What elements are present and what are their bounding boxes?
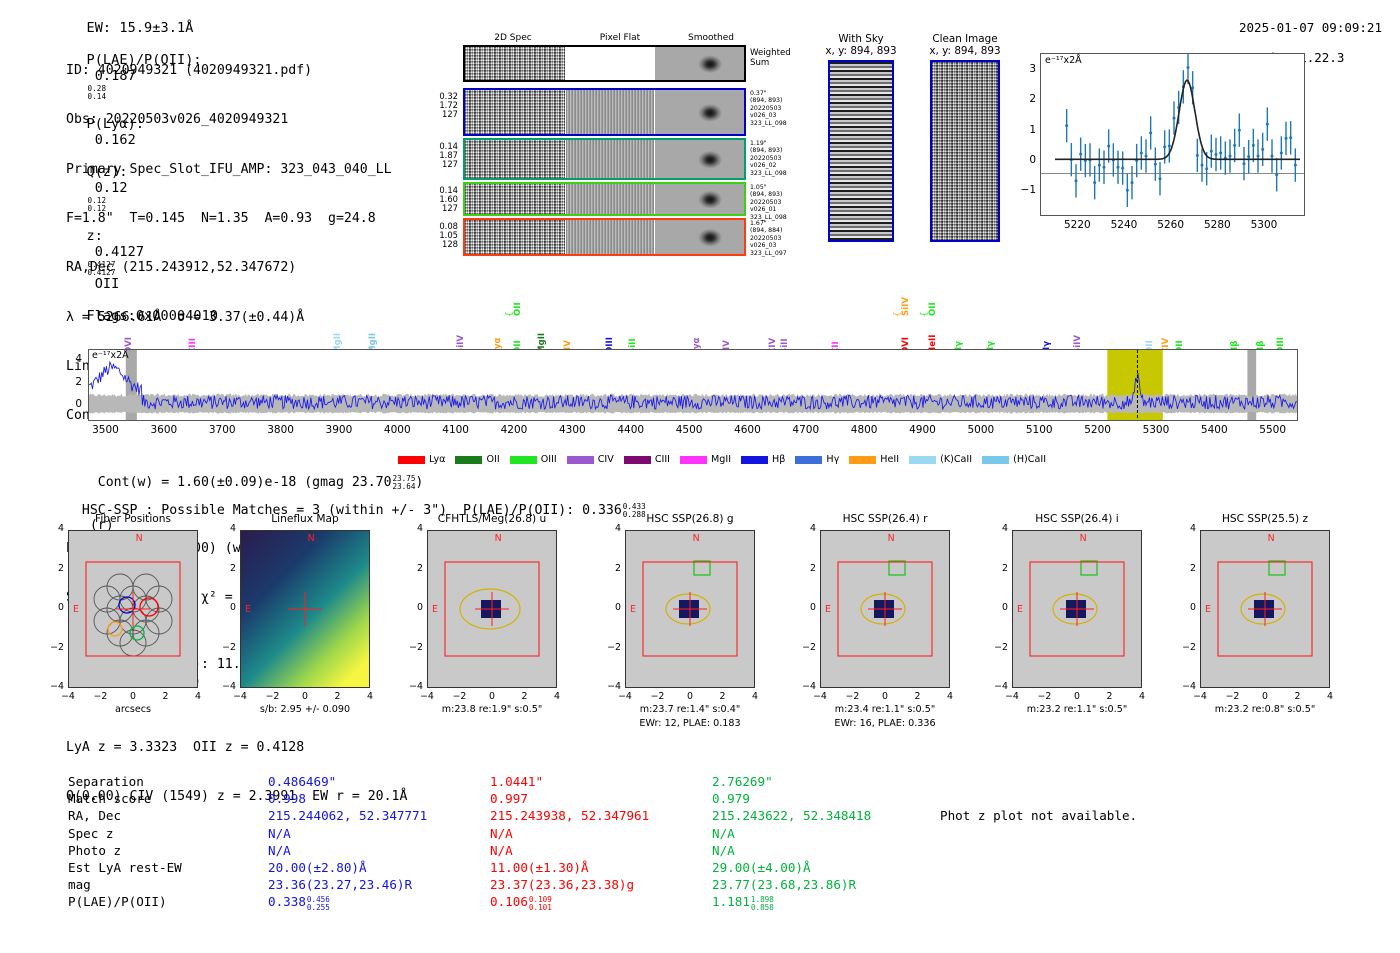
- thumbnail-xtick: 2: [1094, 691, 1126, 702]
- compass-north-label: N: [888, 533, 895, 544]
- thumbnail-title: HSC SSP(26.4) r: [800, 513, 970, 525]
- thumbnail-title: Fiber Positions: [48, 513, 218, 525]
- thumbnail-caption-1: m:23.2 re:0.8" s:0.5": [1172, 704, 1358, 715]
- legend-item: OII: [455, 454, 499, 465]
- info-radec: RA,Dec (215.243912,52.347672): [66, 260, 423, 276]
- table-row-label: Match score: [68, 790, 268, 807]
- withsky-subtitle: x, y: 894, 893: [815, 45, 907, 57]
- compass-east-label: E: [245, 604, 251, 615]
- spec2d-stat: 127: [426, 160, 458, 169]
- legend-label: Lyα: [429, 454, 445, 465]
- spec2d-meta: 20220503: [750, 155, 808, 162]
- cleanimage-image: [930, 60, 1000, 242]
- spec2d-row-meta: 0.37"(894, 893)20220503v026_03323_LL_098: [750, 90, 808, 127]
- thumbnail-ytick: −2: [986, 642, 1008, 653]
- thumbnail-title: HSC SSP(26.8) g: [605, 513, 775, 525]
- spec2d-row: [463, 182, 746, 216]
- thumbnail-caption-2: EWr: 16, PLAE: 0.336: [792, 718, 978, 729]
- thumbnail-xtick: −2: [257, 691, 289, 702]
- info-id: ID: 4020949321 (4020949321.pdf): [66, 63, 423, 79]
- table-cell: N/A: [268, 825, 490, 842]
- thumbnail-xtick: 4: [354, 691, 386, 702]
- thumbnail-ytick: 0: [214, 602, 236, 613]
- table-cell-lower: 0.101: [529, 904, 552, 912]
- thumbnail-title: HSC SSP(25.5) z: [1180, 513, 1350, 525]
- pixelflat-image: [566, 90, 654, 134]
- thumbnail-xtick: −4: [224, 691, 256, 702]
- table-row-label: mag: [68, 876, 268, 893]
- legend-swatch: [680, 456, 707, 464]
- spec2d-meta: 323_LL_098: [750, 170, 808, 177]
- withsky-title-block: With Sky x, y: 894, 893: [815, 33, 907, 58]
- thumbnail-xtick: −2: [837, 691, 869, 702]
- spec2d-row-meta: 1.19"(894, 893)20220503v026_02323_LL_098: [750, 140, 808, 177]
- spectrum-ytick: 2: [62, 376, 82, 388]
- legend-label: (H)CaII: [1013, 454, 1046, 465]
- legend-label: OII: [486, 454, 499, 465]
- full-spectrum-svg: [89, 350, 1297, 420]
- smoothed-image: [655, 140, 744, 178]
- spectrum-xtick: 5000: [957, 424, 1005, 436]
- compass-north-label: N: [495, 533, 502, 544]
- spectrum-ytick: 4: [62, 353, 82, 365]
- legend-item: Lyα: [398, 454, 445, 465]
- thumbnail-ytick: 2: [401, 563, 423, 574]
- compass-east-label: E: [73, 604, 79, 615]
- compass-east-label: E: [825, 604, 831, 615]
- zoom-plot-ytick: −1: [1018, 184, 1036, 196]
- photz-unavailable-note: Phot z plot not available.: [940, 808, 1137, 823]
- thumbnail-ytick: 4: [794, 523, 816, 534]
- legend-item: CIII: [624, 454, 670, 465]
- thumbnail-ytick: −2: [401, 642, 423, 653]
- thumbnail-image[interactable]: [1200, 530, 1330, 688]
- legend-label: CIII: [655, 454, 670, 465]
- table-row: Est LyA rest-EW20.00(±2.80)Å11.00(±1.30)…: [68, 859, 934, 876]
- thumbnail-ytick: 0: [401, 602, 423, 613]
- timestamp: 2025-01-07 09:09:21: [1239, 20, 1382, 35]
- thumbnail-overlay: [1013, 531, 1141, 687]
- table-cell-value: 0.338: [268, 894, 306, 909]
- spec2d-row-stats: 0.141.60127: [426, 186, 458, 213]
- spectrum-xtick: 3700: [198, 424, 246, 436]
- spec2d-image: [465, 90, 565, 134]
- spec2d-meta: v026_03: [750, 242, 808, 249]
- spec2d-meta: 1.05": [750, 184, 808, 191]
- pixelflat-image: [566, 140, 654, 178]
- table-row: Photo zN/AN/AN/A: [68, 842, 934, 859]
- table-cell: 0.1060.1090.101: [490, 893, 712, 910]
- thumbnail-xtick: −4: [52, 691, 84, 702]
- legend-item: (H)CaII: [982, 454, 1046, 465]
- cleanimage-title: Clean Image: [913, 33, 1017, 45]
- thumbnail-ytick: 0: [986, 602, 1008, 613]
- spectrum-legend: LyαOIIOIIICIVCIIIMgIIHβHγHeII(K)CaII(H)C…: [398, 454, 1053, 465]
- legend-swatch: [849, 456, 876, 464]
- table-cell: 23.36(23.27,23.46)R: [268, 876, 490, 893]
- thumbnail-xtick: 2: [509, 691, 541, 702]
- cleanimage-title-block: Clean Image x, y: 894, 893: [913, 33, 1017, 58]
- table-cell: 0.997: [490, 790, 712, 807]
- smoothed-image: [655, 90, 744, 134]
- thumbnail-image[interactable]: [820, 530, 950, 688]
- spec2d-meta: 20220503: [750, 105, 808, 112]
- table-cell: 1.1811.8980.858: [712, 893, 934, 910]
- table-cell: 0.979: [712, 790, 934, 807]
- info-obs: Obs: 20220503v026_4020949321: [66, 112, 423, 128]
- compass-east-label: E: [630, 604, 636, 615]
- thumbnail-xtick: −2: [85, 691, 117, 702]
- table-cell: 11.00(±1.30)Å: [490, 859, 712, 876]
- spectrum-ytick: 0: [62, 398, 82, 410]
- thumbnail-caption-1: m:23.7 re:1.4" s:0.4": [597, 704, 783, 715]
- spectrum-xtick: 4300: [548, 424, 596, 436]
- spec2d-image-weighted: [465, 47, 565, 80]
- thumbnail-xtick: −4: [804, 691, 836, 702]
- thumbnail-xtick: −2: [1029, 691, 1061, 702]
- emission-line-bracket-icon: {: [893, 311, 903, 317]
- spectrum-xtick: 3800: [257, 424, 305, 436]
- table-cell: 23.77(23.68,23.86)R: [712, 876, 934, 893]
- thumbnail-xtick: 2: [707, 691, 739, 702]
- thumbnail-ytick: −2: [42, 642, 64, 653]
- legend-swatch: [510, 456, 537, 464]
- legend-item: OIII: [510, 454, 557, 465]
- hsc-summary: HSC-SSP : Possible Matches = 3 (within +…: [66, 487, 646, 533]
- zoom-plot-ytick: 2: [1018, 93, 1036, 105]
- table-cell-lower: 0.858: [751, 904, 774, 912]
- thumbnail-xtick: 4: [1314, 691, 1346, 702]
- thumbnail-xtick: 2: [1282, 691, 1314, 702]
- thumbnail-xtick: 2: [322, 691, 354, 702]
- spectrum-xtick: 4600: [723, 424, 771, 436]
- thumbnail-xtick: −4: [411, 691, 443, 702]
- legend-label: (K)CaII: [940, 454, 972, 465]
- spectrum-xtick: 3900: [315, 424, 363, 436]
- legend-label: Hγ: [826, 454, 839, 465]
- spec2d-meta: 323_LL_097: [750, 250, 808, 257]
- weighted-sum-label: Weighted Sum: [750, 48, 791, 68]
- legend-item: MgII: [680, 454, 731, 465]
- spec2d-stat: 127: [426, 110, 458, 119]
- legend-item: HeII: [849, 454, 899, 465]
- legend-item: (K)CaII: [909, 454, 972, 465]
- legend-label: CIV: [598, 454, 614, 465]
- compass-east-label: E: [432, 604, 438, 615]
- thumbnail-xtick: 4: [1126, 691, 1158, 702]
- spec2d-meta: v026_02: [750, 162, 808, 169]
- legend-swatch: [624, 456, 651, 464]
- thumbnail-ytick: 2: [986, 563, 1008, 574]
- thumbnail-xtick: −2: [1217, 691, 1249, 702]
- thumbnail-ytick: −2: [599, 642, 621, 653]
- spec2d-stat: 128: [426, 240, 458, 249]
- thumbnail-overlay: [69, 531, 197, 687]
- thumbnail-ytick: 0: [599, 602, 621, 613]
- spec2d-row-stats: 0.141.87127: [426, 142, 458, 169]
- spectrum-xtick: 5400: [1190, 424, 1238, 436]
- spec2d-row-meta: 1.05"(894, 893)20220503v026_01323_LL_098: [750, 184, 808, 221]
- table-row-label: Est LyA rest-EW: [68, 859, 268, 876]
- zoom-plot-xtick: 5280: [1197, 219, 1237, 231]
- table-cell: N/A: [712, 842, 934, 859]
- thumbnail-xtick: 4: [739, 691, 771, 702]
- table-cell: 0.998: [268, 790, 490, 807]
- emission-line-bracket-icon: {: [920, 311, 930, 317]
- thumbnail-ytick: 2: [1174, 563, 1196, 574]
- thumbnail-overlay: [626, 531, 754, 687]
- compass-north-label: N: [308, 533, 315, 544]
- legend-label: Hβ: [772, 454, 785, 465]
- thumbnail-ytick: −2: [1174, 642, 1196, 653]
- spec2d-meta: (894, 893): [750, 97, 808, 104]
- thumbnail-xtick: 0: [1061, 691, 1093, 702]
- spec2d-image: [465, 220, 565, 254]
- spec2d-row: [463, 138, 746, 180]
- pixelflat-image-weighted: [566, 47, 654, 80]
- thumbnail-xtick: −4: [609, 691, 641, 702]
- table-cell-lower: 0.255: [307, 904, 330, 912]
- legend-swatch: [567, 456, 594, 464]
- thumbnail-caption-2: EWr: 12, PLAE: 0.183: [597, 718, 783, 729]
- thumbnail-image[interactable]: [240, 530, 370, 688]
- legend-swatch: [455, 456, 482, 464]
- table-cell: N/A: [712, 825, 934, 842]
- zoom-plot-xtick: 5240: [1104, 219, 1144, 231]
- col-title-pixelflat: Pixel Flat: [590, 33, 650, 43]
- spectrum-xtick: 5200: [1074, 424, 1122, 436]
- thumbnail-image[interactable]: [625, 530, 755, 688]
- table-row: Spec zN/AN/AN/A: [68, 825, 934, 842]
- spectrum-ylabel: e⁻¹⁷x2Å: [92, 350, 129, 361]
- table-cell: N/A: [490, 842, 712, 859]
- spec2d-meta: 1.19": [750, 140, 808, 147]
- thumbnail-title: HSC SSP(26.4) i: [992, 513, 1162, 525]
- spectrum-xtick: 3600: [140, 424, 188, 436]
- table-row-label: RA, Dec: [68, 807, 268, 824]
- legend-item: Hγ: [795, 454, 839, 465]
- spec2d-meta: (894, 893): [750, 191, 808, 198]
- thumbnail-overlay: [821, 531, 949, 687]
- legend-swatch: [795, 456, 822, 464]
- thumbnail-xtick: 4: [182, 691, 214, 702]
- smoothed-image: [655, 184, 744, 214]
- full-spectrum-plot: e⁻¹⁷x2Å: [88, 349, 1298, 421]
- spectrum-xtick: 4000: [373, 424, 421, 436]
- thumbnail-xtick: −4: [1184, 691, 1216, 702]
- zoom-plot-ytick: 3: [1018, 63, 1036, 75]
- table-cell: N/A: [490, 825, 712, 842]
- table-cell: N/A: [268, 842, 490, 859]
- table-row-label: Separation: [68, 773, 268, 790]
- cleanimage-subtitle: x, y: 894, 893: [913, 45, 1017, 57]
- table-cell: 0.486469": [268, 773, 490, 790]
- thumbnail-ytick: 2: [794, 563, 816, 574]
- legend-swatch: [398, 456, 425, 464]
- legend-item: CIV: [567, 454, 614, 465]
- info-lambda: λ = 5266.61Å σ = 3.37(±0.44)Å: [66, 310, 423, 326]
- thumbnail-xtick: 0: [1249, 691, 1281, 702]
- info-seeing: F=1.8" T=0.145 N=1.35 A=0.93 g=24.8: [66, 211, 423, 227]
- col-title-smoothed: Smoothed: [678, 33, 744, 43]
- zoom-plot-ytick: 1: [1018, 124, 1036, 136]
- withsky-title: With Sky: [815, 33, 907, 45]
- thumbnail-image[interactable]: [427, 530, 557, 688]
- table-cell-value: 0.106: [490, 894, 528, 909]
- smoothed-image-weighted: [655, 47, 744, 80]
- zoom-plot-xtick: 5220: [1057, 219, 1097, 231]
- table-row: Match score0.9980.9970.979: [68, 790, 934, 807]
- spec2d-meta: (894, 884): [750, 227, 808, 234]
- thumbnail-ytick: 2: [599, 563, 621, 574]
- compass-north-label: N: [136, 533, 143, 544]
- spec2d-meta: 323_LL_098: [750, 120, 808, 127]
- compass-north-label: N: [693, 533, 700, 544]
- thumbnail-ytick: 4: [401, 523, 423, 534]
- zoom-plot-ylabel: e⁻¹⁷x2Å: [1045, 55, 1082, 66]
- thumbnail-caption-1: m:23.2 re:1.1" s:0.5": [984, 704, 1170, 715]
- match-table: Separation0.486469"1.0441"2.76269"Match …: [68, 773, 934, 911]
- table-cell: 23.37(23.36,23.38)g: [490, 876, 712, 893]
- thumbnail-xtick: 2: [902, 691, 934, 702]
- thumbnail-xtick: 0: [117, 691, 149, 702]
- smoothed-image: [655, 220, 744, 254]
- thumbnail-ytick: 2: [214, 563, 236, 574]
- thumbnail-xtick: 4: [934, 691, 966, 702]
- thumbnail-caption-1: arcsecs: [40, 704, 226, 715]
- thumbnail-ytick: −2: [794, 642, 816, 653]
- thumbnail-title: CFHTLS/Meg(26.8) u: [407, 513, 577, 525]
- spectrum-xtick: 4700: [782, 424, 830, 436]
- thumbnail-caption-1: s/b: 2.95 +/- 0.090: [212, 704, 398, 715]
- thumbnail-overlay: [241, 531, 369, 687]
- spectrum-xtick: 4200: [490, 424, 538, 436]
- zoom-plot-svg: [1041, 54, 1304, 215]
- info-redshifts: LyA z = 3.3323 OII z = 0.4128: [66, 740, 423, 756]
- thumbnail-ytick: 0: [794, 602, 816, 613]
- thumbnail-ytick: 0: [42, 602, 64, 613]
- spectrum-xtick: 4100: [432, 424, 480, 436]
- info-primary-spec: Primary Spec_Slot_IFU_AMP: 323_043_040_L…: [66, 162, 423, 178]
- compass-north-label: N: [1268, 533, 1275, 544]
- spectrum-xtick: 4900: [899, 424, 947, 436]
- table-cell: 20.00(±2.80)Å: [268, 859, 490, 876]
- table-row: P(LAE)/P(OII)0.3380.4560.2550.1060.1090.…: [68, 893, 934, 910]
- spec2d-image: [465, 140, 565, 178]
- table-cell: 215.243622, 52.348418: [712, 807, 934, 824]
- thumbnail-overlay: [1201, 531, 1329, 687]
- table-cell: 2.76269": [712, 773, 934, 790]
- thumbnail-xtick: 0: [674, 691, 706, 702]
- thumbnail-image[interactable]: [1012, 530, 1142, 688]
- thumbnail-xtick: 2: [150, 691, 182, 702]
- thumbnail-caption-1: m:23.8 re:1.9" s:0.5": [399, 704, 585, 715]
- spec2d-row: [463, 218, 746, 256]
- thumbnail-ytick: 4: [214, 523, 236, 534]
- table-row-label: Photo z: [68, 842, 268, 859]
- thumbnail-overlay: [428, 531, 556, 687]
- spec2d-meta: 20220503: [750, 235, 808, 242]
- spectrum-xtick: 4500: [665, 424, 713, 436]
- compass-east-label: E: [1205, 604, 1211, 615]
- table-row: Separation0.486469"1.0441"2.76269": [68, 773, 934, 790]
- thumbnail-ytick: 2: [42, 563, 64, 574]
- pixelflat-image: [566, 220, 654, 254]
- spec2d-row-weighted-sum: [463, 45, 746, 82]
- spectrum-xtick: 5100: [1015, 424, 1063, 436]
- spec2d-row: [463, 88, 746, 136]
- table-cell: 215.243938, 52.347961: [490, 807, 712, 824]
- spec2d-row-stats: 0.081.05128: [426, 222, 458, 249]
- spec2d-meta: v026_03: [750, 112, 808, 119]
- spec2d-meta: (894, 893): [750, 147, 808, 154]
- table-row: RA, Dec215.244062, 52.347771215.243938, …: [68, 807, 934, 824]
- thumbnail-image[interactable]: [68, 530, 198, 688]
- thumbnail-caption-1: m:23.4 re:1.1" s:0.5": [792, 704, 978, 715]
- thumbnail-xtick: 0: [869, 691, 901, 702]
- thumbnail-ytick: 4: [986, 523, 1008, 534]
- spectrum-xtick: 5300: [1132, 424, 1180, 436]
- table-row: mag23.36(23.27,23.46)R23.37(23.36,23.38)…: [68, 876, 934, 893]
- thumbnail-xtick: −4: [996, 691, 1028, 702]
- thumbnail-xtick: 4: [541, 691, 573, 702]
- table-cell-value: 1.181: [712, 894, 750, 909]
- emission-line-zoom-plot: e⁻¹⁷x2Å: [1040, 53, 1305, 216]
- thumbnail-xtick: −2: [642, 691, 674, 702]
- zoom-plot-xtick: 5300: [1244, 219, 1284, 231]
- table-row-label: Spec z: [68, 825, 268, 842]
- thumbnail-ytick: 4: [1174, 523, 1196, 534]
- table-row-label: P(LAE)/P(OII): [68, 893, 268, 910]
- legend-item: Hβ: [741, 454, 785, 465]
- pixelflat-image: [566, 184, 654, 214]
- spec2d-meta: v026_01: [750, 206, 808, 213]
- thumbnail-ytick: 0: [1174, 602, 1196, 613]
- spectrum-xtick: 4400: [607, 424, 655, 436]
- thumbnail-ytick: 4: [599, 523, 621, 534]
- thumbnail-xtick: −2: [444, 691, 476, 702]
- emission-line-bracket-icon: {: [505, 311, 515, 317]
- legend-label: OIII: [541, 454, 557, 465]
- spectrum-xtick: 3500: [82, 424, 130, 436]
- spec2d-row-stats: 0.321.72127: [426, 92, 458, 119]
- legend-label: MgII: [711, 454, 731, 465]
- zoom-plot-xtick: 5260: [1151, 219, 1191, 231]
- thumbnail-xtick: 0: [289, 691, 321, 702]
- zoom-plot-ytick: 0: [1018, 154, 1036, 166]
- legend-swatch: [741, 456, 768, 464]
- table-cell: 29.00(±4.00)Å: [712, 859, 934, 876]
- legend-swatch: [982, 456, 1009, 464]
- spec2d-meta: 20220503: [750, 199, 808, 206]
- spec2d-stat: 127: [426, 204, 458, 213]
- table-cell: 1.0441": [490, 773, 712, 790]
- spec2d-row-meta: 1.67"(894, 884)20220503v026_03323_LL_097: [750, 220, 808, 257]
- spec2d-meta: 0.37": [750, 90, 808, 97]
- spec2d-meta: 1.67": [750, 220, 808, 227]
- table-cell: 215.244062, 52.347771: [268, 807, 490, 824]
- legend-label: HeII: [880, 454, 899, 465]
- spectrum-xtick: 5500: [1249, 424, 1297, 436]
- col-title-2dspec: 2D Spec: [483, 33, 543, 43]
- spec2d-image: [465, 184, 565, 214]
- compass-north-label: N: [1080, 533, 1087, 544]
- table-cell: 0.3380.4560.255: [268, 893, 490, 910]
- spectrum-xtick: 4800: [840, 424, 888, 436]
- withsky-image: [828, 60, 894, 242]
- compass-east-label: E: [1017, 604, 1023, 615]
- thumbnail-title: Lineflux Map: [220, 513, 390, 525]
